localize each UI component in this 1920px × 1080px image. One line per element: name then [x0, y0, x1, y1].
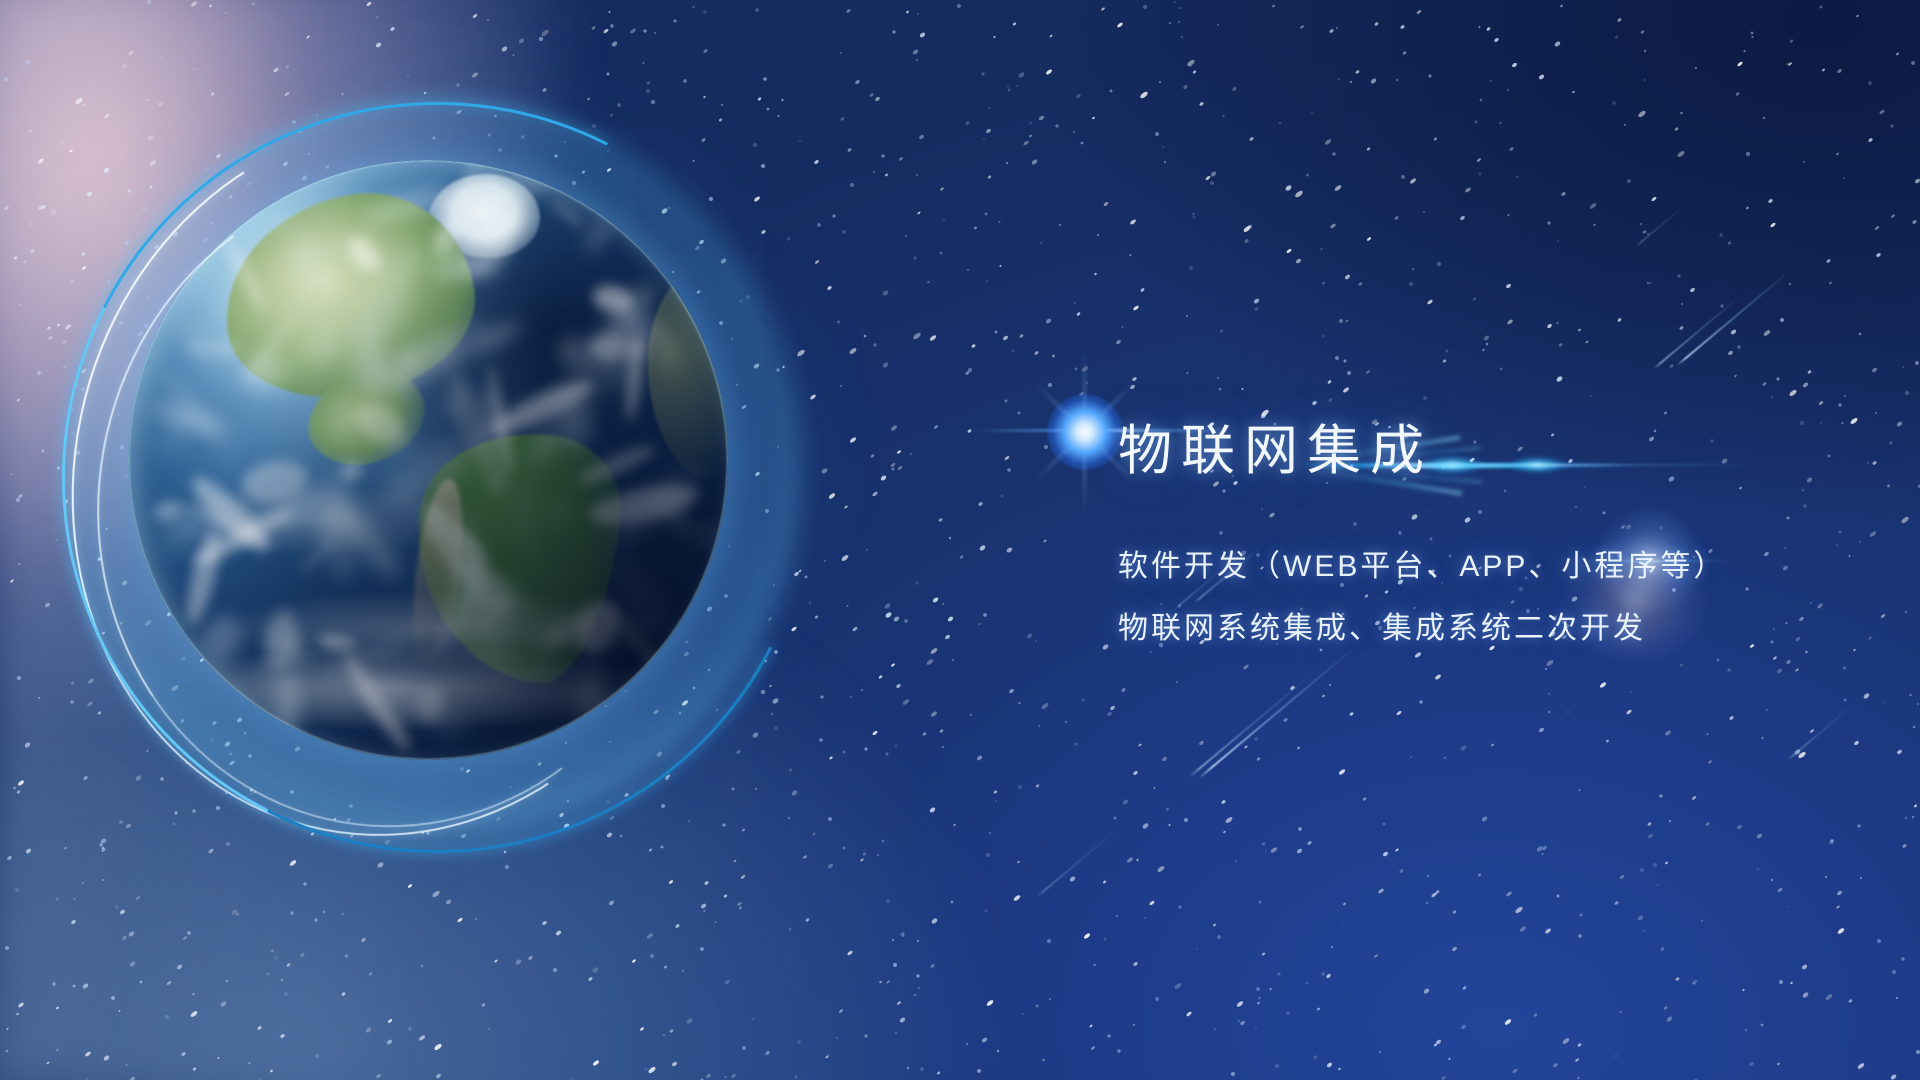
banner-text-block: 物联网集成 软件开发（WEB平台、APP、小程序等） 物联网系统集成、集成系统二… — [1118, 420, 1838, 644]
lens-flare-star — [1047, 394, 1123, 470]
earth-globe — [128, 160, 738, 780]
page-title: 物联网集成 — [1118, 420, 1838, 484]
subtitle-line-2: 物联网系统集成、集成系统二次开发 — [1118, 614, 1838, 644]
subtitle-line-1: 软件开发（WEB平台、APP、小程序等） — [1118, 552, 1838, 582]
globe-rim-light — [128, 160, 728, 760]
globe-sphere — [128, 160, 728, 760]
banner-stage: 物联网集成 软件开发（WEB平台、APP、小程序等） 物联网系统集成、集成系统二… — [0, 0, 1920, 1080]
